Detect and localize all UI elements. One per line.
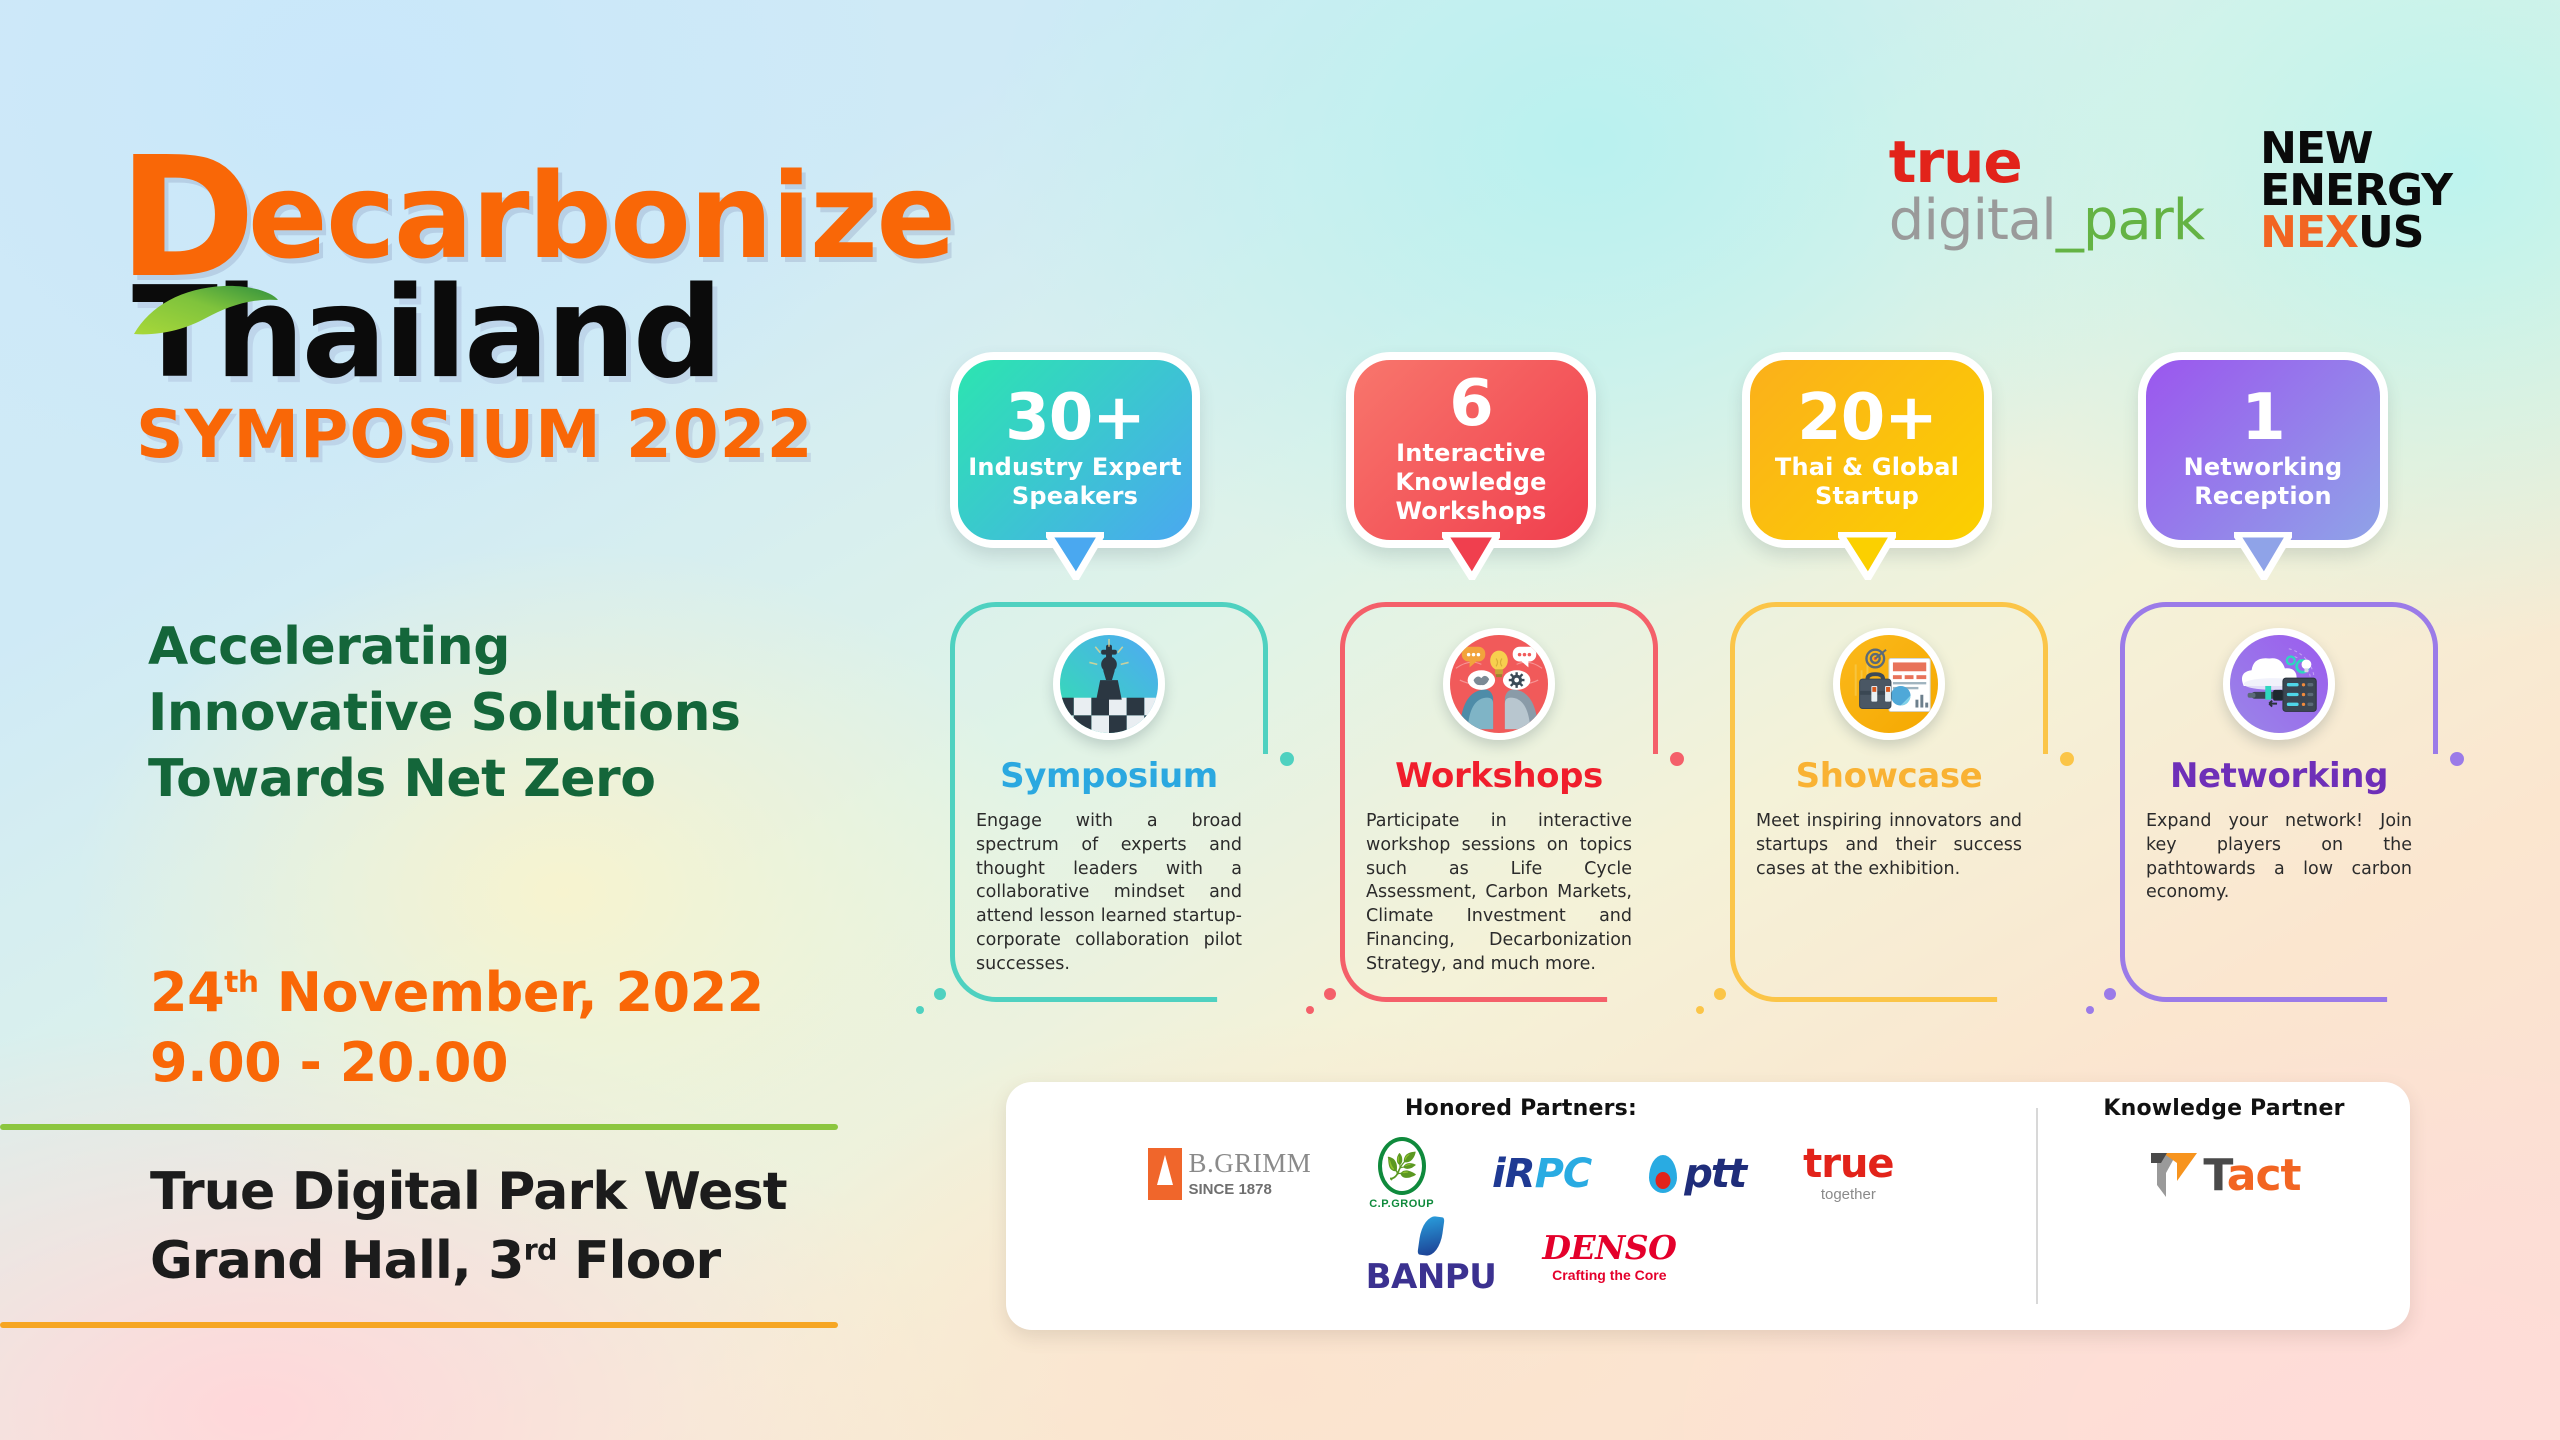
stat-caption-line: Thai & Global: [1775, 453, 1959, 482]
bubble-tail: [2234, 532, 2292, 580]
banpu-flame-icon: [1417, 1215, 1444, 1258]
stat-caption-line: Reception: [2184, 482, 2343, 511]
tdp-true-text: true: [1889, 133, 2204, 191]
logo-bgrimm: B.GRIMM SINCE 1878: [1148, 1148, 1311, 1200]
venue-line-1: True Digital Park West: [150, 1158, 787, 1227]
card-title: Symposium: [976, 756, 1242, 796]
stat-number: 20+: [1797, 388, 1937, 449]
irpc-pc: PC: [1535, 1151, 1592, 1197]
cp-leaf-icon: [1378, 1137, 1426, 1195]
bubble-tail: [1442, 532, 1500, 580]
card-connector-dot: [2450, 752, 2464, 766]
event-datetime: 24th November, 2022 9.00 - 20.00: [150, 958, 764, 1098]
knowledge-partner-title: Knowledge Partner: [2038, 1096, 2410, 1121]
card-connector-dot: [1696, 1006, 1704, 1014]
tagline: Accelerating Innovative Solutions Toward…: [148, 614, 848, 812]
card-connector-dot: [1670, 752, 1684, 766]
date-ordinal: th: [224, 965, 258, 1000]
logo-letter-d: D: [118, 122, 254, 315]
tagline-line-1: Accelerating: [148, 614, 848, 680]
venue-hall: Grand Hall, 3: [150, 1231, 524, 1291]
stat-caption: InteractiveKnowledgeWorkshops: [1395, 439, 1546, 527]
logo-cp-group: C.P.GROUP: [1369, 1137, 1434, 1210]
left-panel: Decarbonize Thailand SYMPOSIUM 2022 Acce…: [0, 0, 880, 1440]
card-connector-dot: [916, 1006, 924, 1014]
program-card-symposium[interactable]: SymposiumEngage with a broad spectrum of…: [950, 602, 1268, 1002]
program-card-networking[interactable]: NetworkingExpand your network! Join key …: [2120, 602, 2438, 1002]
new-energy-nexus-logo: NEW ENERGY NEXUS: [2260, 128, 2452, 253]
tdp-digital-word: digital: [1889, 188, 2056, 253]
logo-tact: Tact: [2038, 1147, 2410, 1203]
tdp-park-word: park: [2083, 188, 2204, 253]
two-heads-idea-icon: [1443, 628, 1555, 740]
stat-bubbles: 30+Industry ExpertSpeakers6InteractiveKn…: [950, 352, 2430, 602]
banpu-name: BANPU: [1366, 1257, 1497, 1297]
stat-caption-line: Industry Expert: [968, 453, 1182, 482]
honored-partners-section: Honored Partners: B.GRIMM SINCE 1878 C.P…: [1006, 1082, 2036, 1330]
program-card-workshops[interactable]: WorkshopsParticipate in interactive work…: [1340, 602, 1658, 1002]
true-digital-park-logo: true digital_park: [1889, 133, 2204, 249]
card-content: SymposiumEngage with a broad spectrum of…: [950, 602, 1268, 977]
venue-floor-ordinal: rd: [524, 1233, 557, 1267]
stat-bubble-body: 20+Thai & GlobalStartup: [1742, 352, 1992, 548]
tact-t: T: [2203, 1150, 2226, 1201]
stat-bubble-30plus: 30+Industry ExpertSpeakers: [950, 352, 1200, 548]
stat-bubble-6: 6InteractiveKnowledgeWorkshops: [1346, 352, 1596, 548]
ptt-flame-icon: [1649, 1155, 1677, 1193]
logo-banpu: BANPU: [1366, 1216, 1497, 1297]
nen-line-3: NEXUS: [2260, 212, 2452, 254]
event-logo: Decarbonize Thailand SYMPOSIUM 2022: [118, 130, 954, 469]
tact-act: act: [2227, 1150, 2301, 1201]
denso-tagline: Crafting the Core: [1542, 1267, 1676, 1283]
stat-caption-line: Workshops: [1395, 497, 1546, 526]
nen-nex: NEX: [2260, 207, 2358, 258]
card-connector-dot: [1324, 988, 1336, 1000]
logo-denso: DENSO Crafting the Core: [1542, 1231, 1676, 1283]
stat-caption: NetworkingReception: [2184, 453, 2343, 512]
event-time: 9.00 - 20.00: [150, 1028, 764, 1098]
honored-partners-title: Honored Partners:: [1006, 1096, 2036, 1121]
stat-caption-line: Startup: [1775, 482, 1959, 511]
stat-bubble-1: 1NetworkingReception: [2138, 352, 2388, 548]
tdp-digital-park-text: digital_park: [1889, 193, 2204, 249]
stat-bubble-body: 6InteractiveKnowledgeWorkshops: [1346, 352, 1596, 548]
stat-number: 1: [2241, 388, 2285, 449]
bubble-tail: [1046, 532, 1104, 580]
nen-us: US: [2358, 207, 2423, 258]
logo-decarbonize: Decarbonize: [118, 130, 954, 275]
logo-ptt: ptt: [1649, 1151, 1745, 1197]
date-rest: November, 2022: [258, 961, 763, 1024]
honored-logos-row-2: BANPU DENSO Crafting the Core: [1006, 1216, 2036, 1297]
bubble-tail: [1838, 532, 1896, 580]
partner-logos-header: true digital_park NEW ENERGY NEXUS: [1889, 128, 2452, 253]
logo-word-rest: ecarbonize: [248, 147, 955, 285]
card-content: NetworkingExpand your network! Join key …: [2120, 602, 2438, 905]
event-date: 24th November, 2022: [150, 958, 764, 1028]
card-content: ShowcaseMeet inspiring innovators and st…: [1730, 602, 2048, 881]
divider-orange: [0, 1322, 838, 1328]
card-content: WorkshopsParticipate in interactive work…: [1340, 602, 1658, 977]
knowledge-partner-section: Knowledge Partner Tact: [2038, 1082, 2410, 1330]
divider-green: [0, 1124, 838, 1130]
stat-caption-line: Knowledge: [1395, 468, 1546, 497]
true-name: true: [1803, 1144, 1893, 1184]
nen-line-1: NEW: [2260, 128, 2452, 170]
logo-true: true together: [1803, 1144, 1893, 1203]
date-day: 24: [150, 961, 224, 1024]
stat-caption: Industry ExpertSpeakers: [968, 453, 1182, 512]
stat-bubble-20plus: 20+Thai & GlobalStartup: [1742, 352, 1992, 548]
bgrimm-mark-icon: [1148, 1148, 1182, 1200]
card-description: Expand your network! Join key players on…: [2146, 810, 2412, 905]
card-connector-dot: [1280, 752, 1294, 766]
card-description: Meet inspiring innovators and startups a…: [1756, 810, 2022, 881]
logo-symposium-year: SYMPOSIUM 2022: [136, 400, 954, 469]
logo-thailand: Thailand: [132, 269, 954, 398]
logo-irpc: iRPC: [1492, 1151, 1591, 1197]
cp-name: C.P.GROUP: [1369, 1198, 1434, 1210]
card-description: Engage with a broad spectrum of experts …: [976, 810, 1242, 977]
tdp-underscore: _: [2056, 188, 2083, 253]
stat-bubble-body: 30+Industry ExpertSpeakers: [950, 352, 1200, 548]
card-connector-dot: [2086, 1006, 2094, 1014]
stat-number: 30+: [1005, 388, 1145, 449]
bgrimm-text: B.GRIMM SINCE 1878: [1188, 1150, 1311, 1198]
program-card-showcase[interactable]: ShowcaseMeet inspiring innovators and st…: [1730, 602, 2048, 1002]
venue-line-2: Grand Hall, 3rd Floor: [150, 1227, 787, 1296]
venue-floor-word: Floor: [557, 1231, 721, 1291]
nen-line-2: ENERGY: [2260, 170, 2452, 212]
card-connector-dot: [1714, 988, 1726, 1000]
stat-bubble-body: 1NetworkingReception: [2138, 352, 2388, 548]
irpc-i: i: [1492, 1151, 1505, 1197]
partners-panel: Honored Partners: B.GRIMM SINCE 1878 C.P…: [1006, 1082, 2410, 1330]
bgrimm-since: SINCE 1878: [1188, 1181, 1311, 1198]
stat-caption-line: Networking: [2184, 453, 2343, 482]
tact-name: Tact: [2203, 1150, 2300, 1201]
event-venue: True Digital Park West Grand Hall, 3rd F…: [150, 1158, 787, 1296]
stat-number: 6: [1449, 374, 1493, 435]
honored-logos-row-1: B.GRIMM SINCE 1878 C.P.GROUP iRPC ptt tr…: [1006, 1137, 2036, 1210]
card-connector-dot: [934, 988, 946, 1000]
card-description: Participate in interactive workshop sess…: [1366, 810, 1632, 977]
card-title: Workshops: [1366, 756, 1632, 796]
briefcase-chart-icon: [1833, 628, 1945, 740]
ptt-name: ptt: [1684, 1151, 1745, 1197]
card-connector-dot: [2060, 752, 2074, 766]
card-connector-dot: [1306, 1006, 1314, 1014]
stat-caption: Thai & GlobalStartup: [1775, 453, 1959, 512]
chess-king-icon: [1053, 628, 1165, 740]
card-title: Networking: [2146, 756, 2412, 796]
program-cards: SymposiumEngage with a broad spectrum of…: [950, 602, 2450, 1034]
denso-name: DENSO: [1542, 1231, 1676, 1264]
true-tagline: together: [1803, 1186, 1893, 1203]
stat-caption-line: Interactive: [1395, 439, 1546, 468]
stat-caption-line: Speakers: [968, 482, 1182, 511]
bgrimm-name: B.GRIMM: [1188, 1150, 1311, 1177]
irpc-r: R: [1505, 1151, 1535, 1197]
tact-mark-icon: [2147, 1147, 2199, 1203]
tagline-line-2: Innovative Solutions: [148, 680, 848, 746]
card-connector-dot: [2104, 988, 2116, 1000]
cloud-server-icon: [2223, 628, 2335, 740]
card-title: Showcase: [1756, 756, 2022, 796]
tagline-line-3: Towards Net Zero: [148, 746, 848, 812]
